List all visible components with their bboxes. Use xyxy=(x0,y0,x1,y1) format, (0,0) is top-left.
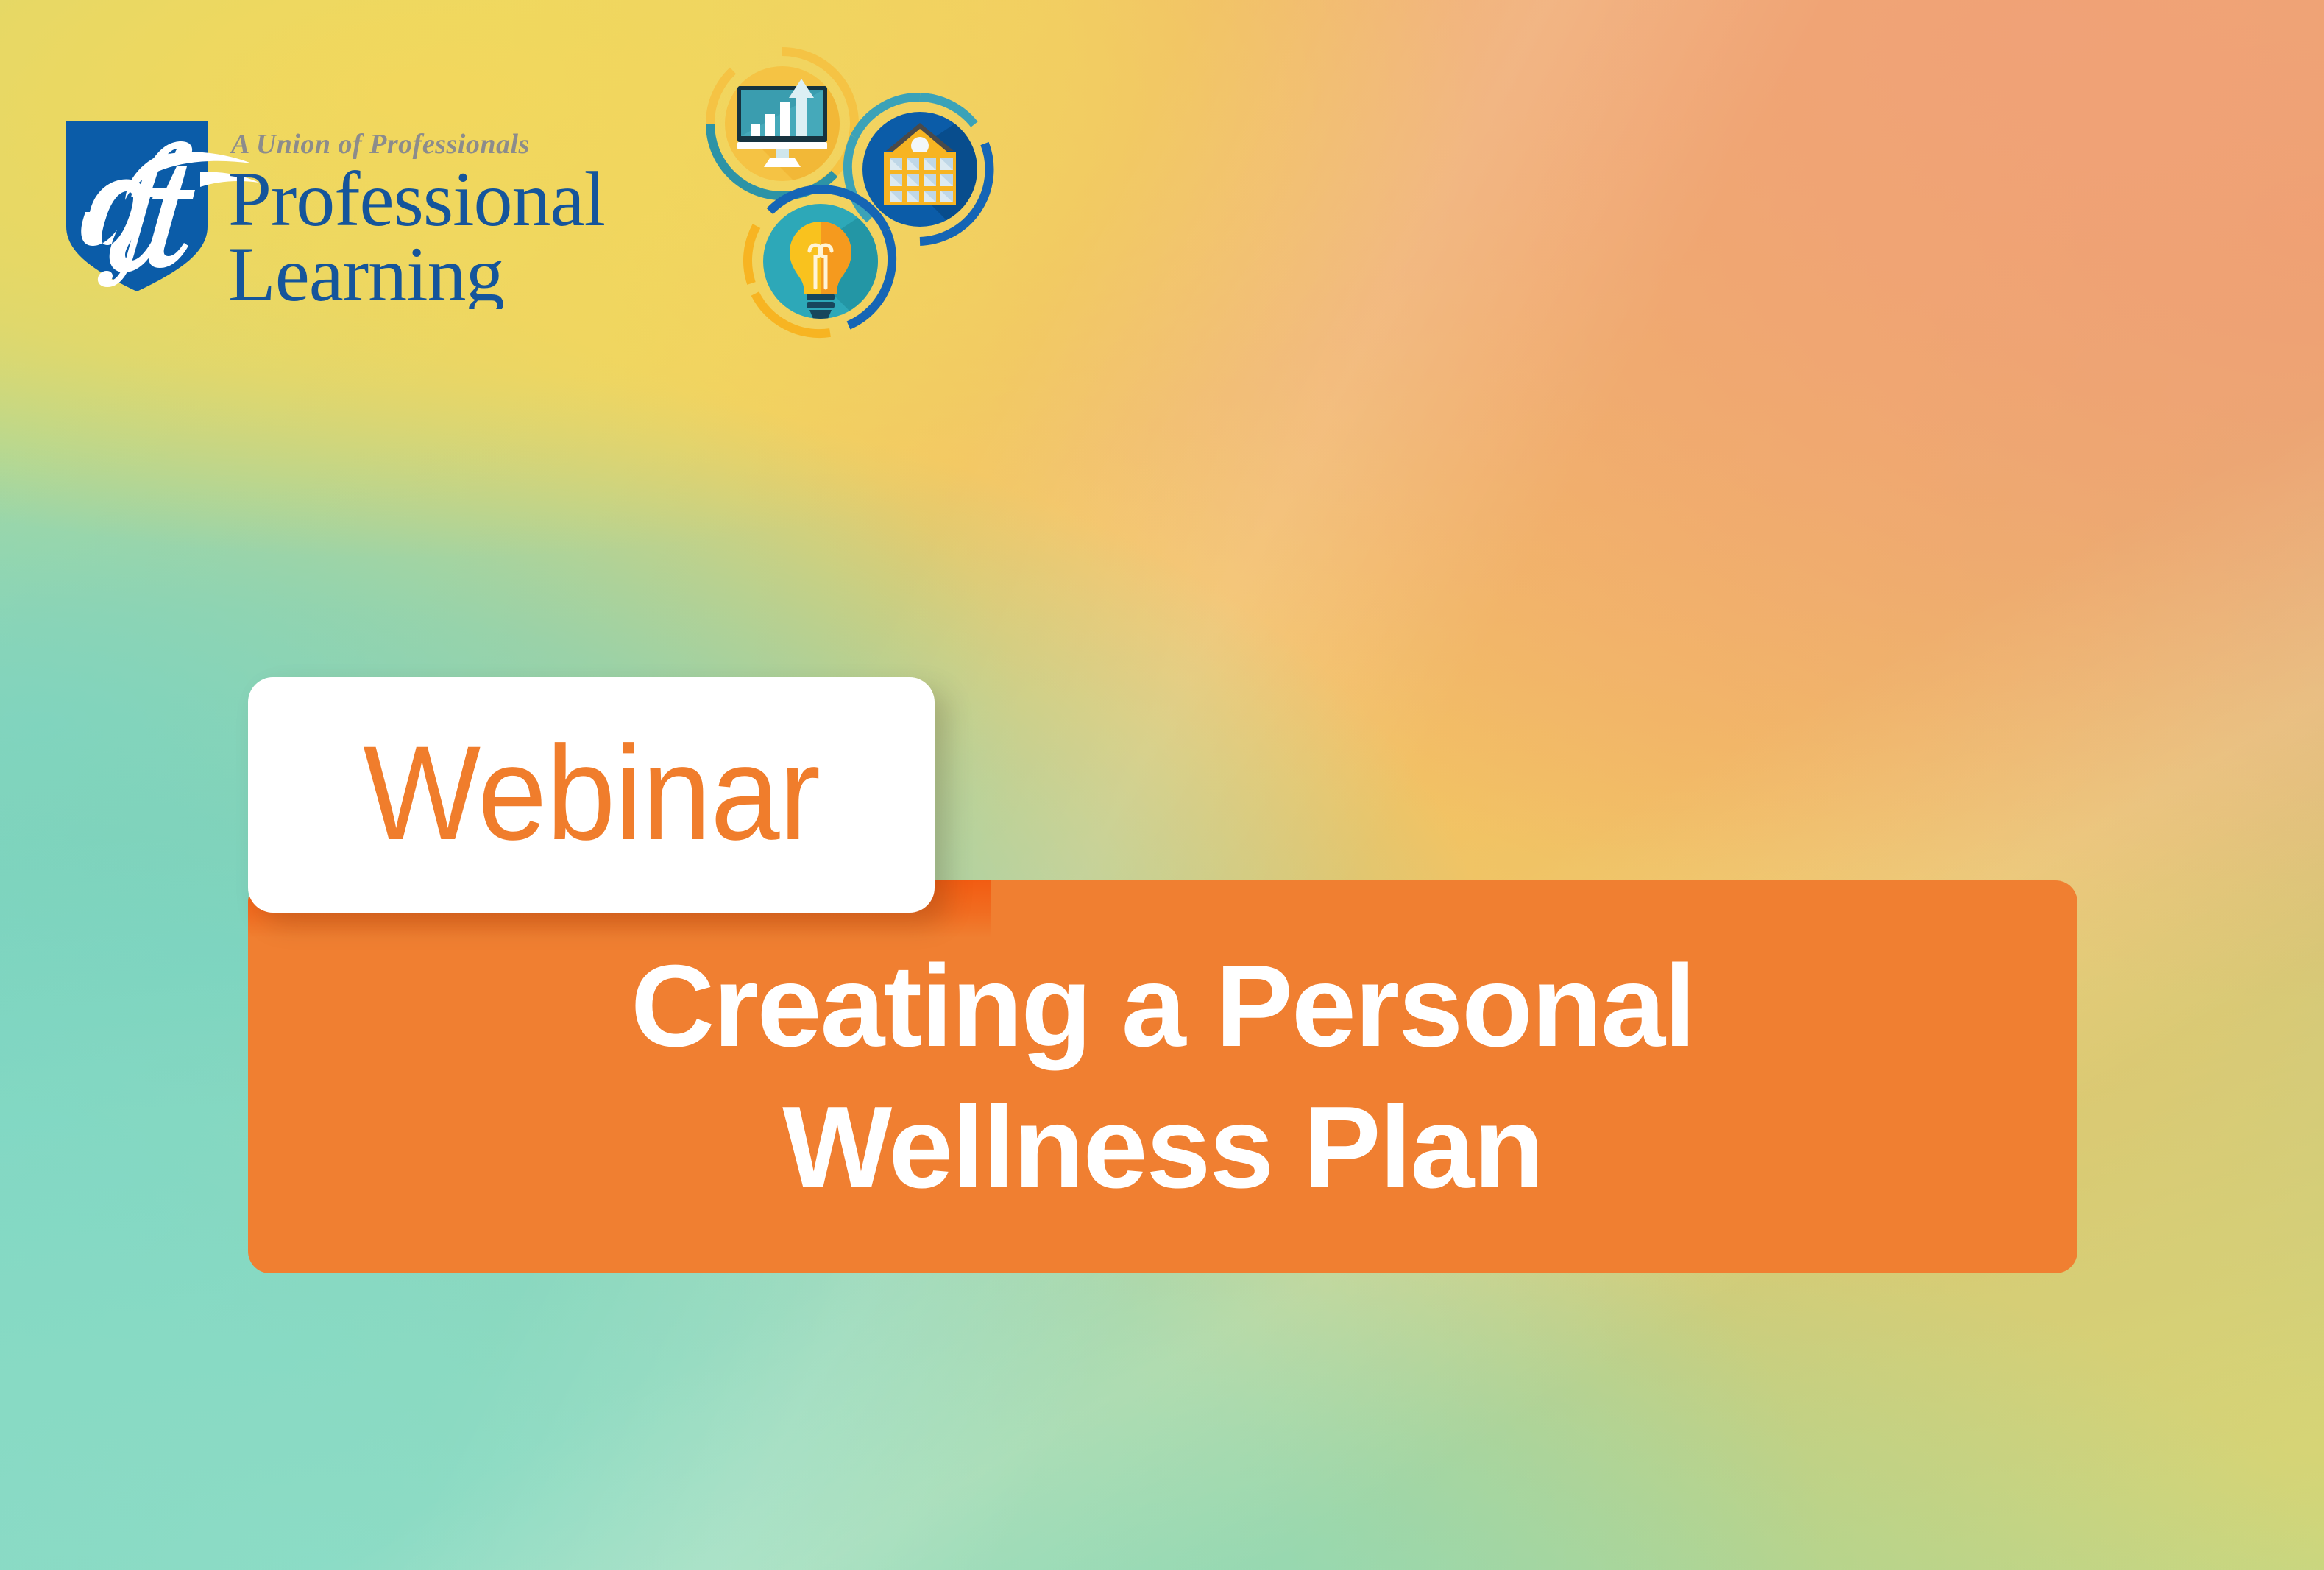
aft-professional-learning-logo: A Union of Professionals Professional Le… xyxy=(63,118,696,309)
logo-line-learning: Learning xyxy=(228,231,504,309)
title-card: Creating a Personal Wellness Plan xyxy=(248,880,2077,1273)
logo-tagline: A Union of Professionals xyxy=(230,129,530,160)
school-building-icon xyxy=(848,97,1008,241)
title-line-2: Wellness Plan xyxy=(782,1079,1543,1216)
webinar-poster: A Union of Professionals Professional Le… xyxy=(0,0,2324,1570)
logo-line-professional: Professional xyxy=(228,156,605,242)
webinar-badge: Webinar xyxy=(248,677,935,913)
webinar-badge-label: Webinar xyxy=(363,726,820,860)
icon-cluster xyxy=(699,40,1016,379)
title-line-1: Creating a Personal xyxy=(631,938,1695,1075)
